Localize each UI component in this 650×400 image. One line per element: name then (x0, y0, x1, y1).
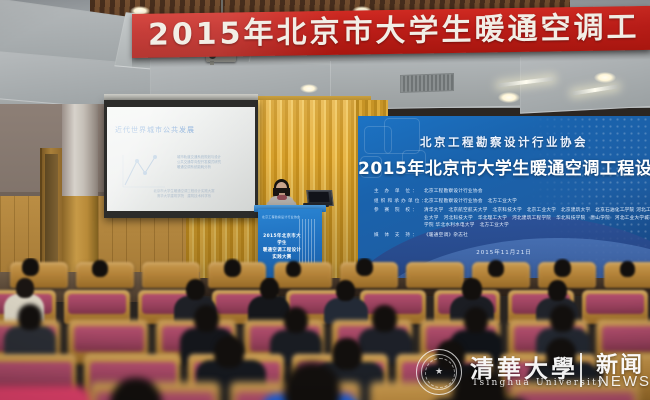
audience-head (194, 305, 219, 332)
info-value: 北京工程勘察设计行业协会 (424, 188, 483, 196)
audience-head (372, 305, 397, 332)
auditorium-seat (406, 262, 464, 288)
news-label-en: NEWS (598, 373, 650, 390)
tsinghua-seal-icon: ★ (416, 349, 462, 395)
projection-screen: 近代世界城市公共发展 城市轨道交通系统规划与设计 公共交通导向型开发模式研究 暖… (107, 107, 255, 211)
audience-head (22, 258, 39, 276)
watermark: ★ 清華大學 Tsinghua University 新闻 NEWS (414, 345, 646, 397)
backdrop-organizer-line: 北京工程勘察设计行业协会 (358, 134, 650, 150)
audience-head (214, 336, 244, 368)
slide-body-text: 城市轨道交通系统规划与设计 公共交通导向型开发模式研究 暖通空调系统能耗分析 (177, 155, 249, 170)
audience-head (186, 279, 205, 300)
audience-head (464, 307, 488, 333)
backdrop-info-row: 媒 体 支 持： 《暖通空调》杂志社 (374, 232, 650, 240)
slide-footer-text: 北京市大学生暖通空调工程设计实践大赛 清华大学建筑学院 建筑技术科学系 (129, 189, 239, 199)
audience-head (92, 260, 108, 277)
seat-cushion (68, 294, 126, 314)
backdrop-info-block: 主 办 单 位： 北京工程勘察设计行业协会 组织和承办单位： 北京工程勘察设计行… (374, 188, 650, 241)
university-name-en: Tsinghua University (472, 378, 605, 388)
audience-head (554, 259, 571, 277)
ceiling-vent (400, 73, 454, 93)
backdrop-info-row: 组织和承办单位： 北京工程勘察设计行业协会 北方工业大学 (374, 198, 650, 206)
ceiling-light (300, 84, 318, 93)
audience-head (356, 258, 373, 276)
audience-head (332, 338, 362, 370)
auditorium-seat (274, 262, 332, 288)
audience-head (488, 260, 504, 277)
audience-head (16, 278, 34, 298)
seat-cushion (74, 326, 144, 352)
banner-text: 2015年北京市大学生暖通空调工 (148, 7, 640, 57)
info-label: 组织和承办单位： (374, 198, 424, 204)
audience-head (224, 259, 241, 277)
backdrop-date: 2015年11月21日 (358, 248, 650, 256)
podium-main-text: 2015年北京市大学生 暖通空调工程设计实践大赛 (261, 233, 303, 261)
backdrop-info-row: 主 办 单 位： 北京工程勘察设计行业协会 (374, 188, 650, 196)
audience-head (462, 278, 482, 300)
seat-cushion (586, 294, 644, 314)
audience-head (336, 280, 355, 301)
podium-top-text: 北京工程勘察设计行业协会 (262, 215, 318, 219)
audience-head (18, 304, 42, 330)
audience-head (550, 305, 575, 332)
backdrop-main-title: 2015年北京市大学生暖通空调工程设计实践大赛 (358, 154, 650, 179)
audience-head (620, 261, 635, 277)
watermark-divider (580, 353, 582, 387)
info-label: 参 赛 院 校： (374, 207, 424, 213)
ceiling-light (594, 72, 616, 83)
info-label: 主 办 单 位： (374, 188, 424, 194)
info-label: 媒 体 支 持： (374, 232, 424, 238)
slide-diagram (121, 151, 167, 191)
info-value: 《暖通空调》杂志社 (424, 232, 468, 240)
audience-head (548, 280, 567, 301)
audience-head (260, 278, 279, 299)
red-event-banner: 2015年北京市大学生暖通空调工 (132, 6, 650, 58)
ceiling-light (498, 92, 520, 103)
audience-head (286, 261, 301, 277)
speaker-collar (277, 195, 287, 200)
lecture-hall-photo: 2015年北京市大学生暖通空调工 近代世界城市公共发展 城市轨道交通系统规划与设… (0, 0, 650, 400)
slide-title: 近代世界城市公共发展 (115, 125, 195, 135)
backdrop-info-row: 参 赛 院 校： 清华大学 北京航空航天大学 北京科技大学 北京工业大学 北京建… (374, 207, 650, 230)
audience-head (284, 307, 308, 333)
laptop-screen (308, 192, 329, 202)
seal-star-icon: ★ (435, 367, 443, 375)
info-value: 北京工程勘察设计行业协会 北方工业大学 (424, 198, 517, 206)
info-value: 清华大学 北京航空航天大学 北京科技大学 北京工业大学 北京建筑大学 北京石油化… (424, 207, 650, 230)
audience-shoulders (0, 386, 90, 400)
